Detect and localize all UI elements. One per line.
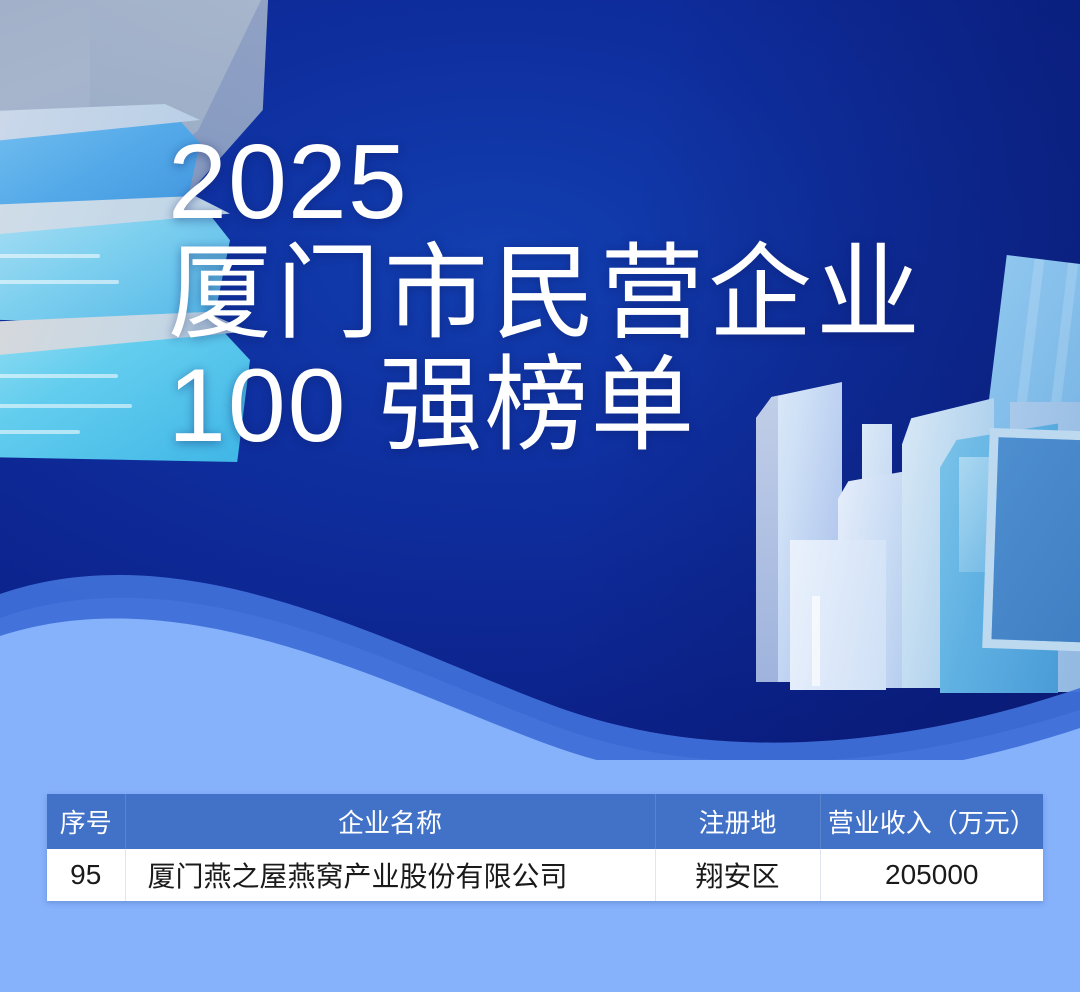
left-block-line-icon xyxy=(0,430,80,434)
column-header-company: 企业名称 xyxy=(125,794,655,849)
cell-revenue: 205000 xyxy=(820,849,1043,901)
ranking-table-wrapper: 序号 企业名称 注册地 营业收入（万元） 95 厦门燕之屋燕窝产业股份有限公司 … xyxy=(47,794,1043,901)
cell-company: 厦门燕之屋燕窝产业股份有限公司 xyxy=(125,849,655,901)
table-body: 95 厦门燕之屋燕窝产业股份有限公司 翔安区 205000 xyxy=(47,849,1043,901)
table-header-row: 序号 企业名称 注册地 营业收入（万元） xyxy=(47,794,1043,849)
cell-rank: 95 xyxy=(47,849,125,901)
wave-divider-mid-icon xyxy=(0,560,1080,790)
title-line-sub: 100 强榜单 xyxy=(168,350,998,462)
left-block-line-icon xyxy=(0,374,118,378)
poster-title: 2025 厦门市民营企业 100 强榜单 xyxy=(168,126,998,462)
table-header: 序号 企业名称 注册地 营业收入（万元） xyxy=(47,794,1043,849)
title-line-main: 厦门市民营企业 xyxy=(168,238,998,350)
ranking-table: 序号 企业名称 注册地 营业收入（万元） 95 厦门燕之屋燕窝产业股份有限公司 … xyxy=(47,794,1043,901)
left-block-line-icon xyxy=(0,404,132,408)
left-block-line-icon xyxy=(0,280,119,284)
column-header-rank: 序号 xyxy=(47,794,125,849)
column-header-revenue: 营业收入（万元） xyxy=(820,794,1043,849)
table-row: 95 厦门燕之屋燕窝产业股份有限公司 翔安区 205000 xyxy=(47,849,1043,901)
poster-root: 2025 厦门市民营企业 100 强榜单 序号 企业名称 注册地 营业收入（万元… xyxy=(0,0,1080,992)
column-header-district: 注册地 xyxy=(655,794,820,849)
cell-district: 翔安区 xyxy=(655,849,820,901)
left-block-line-icon xyxy=(0,254,100,258)
title-line-year: 2025 xyxy=(168,126,998,238)
